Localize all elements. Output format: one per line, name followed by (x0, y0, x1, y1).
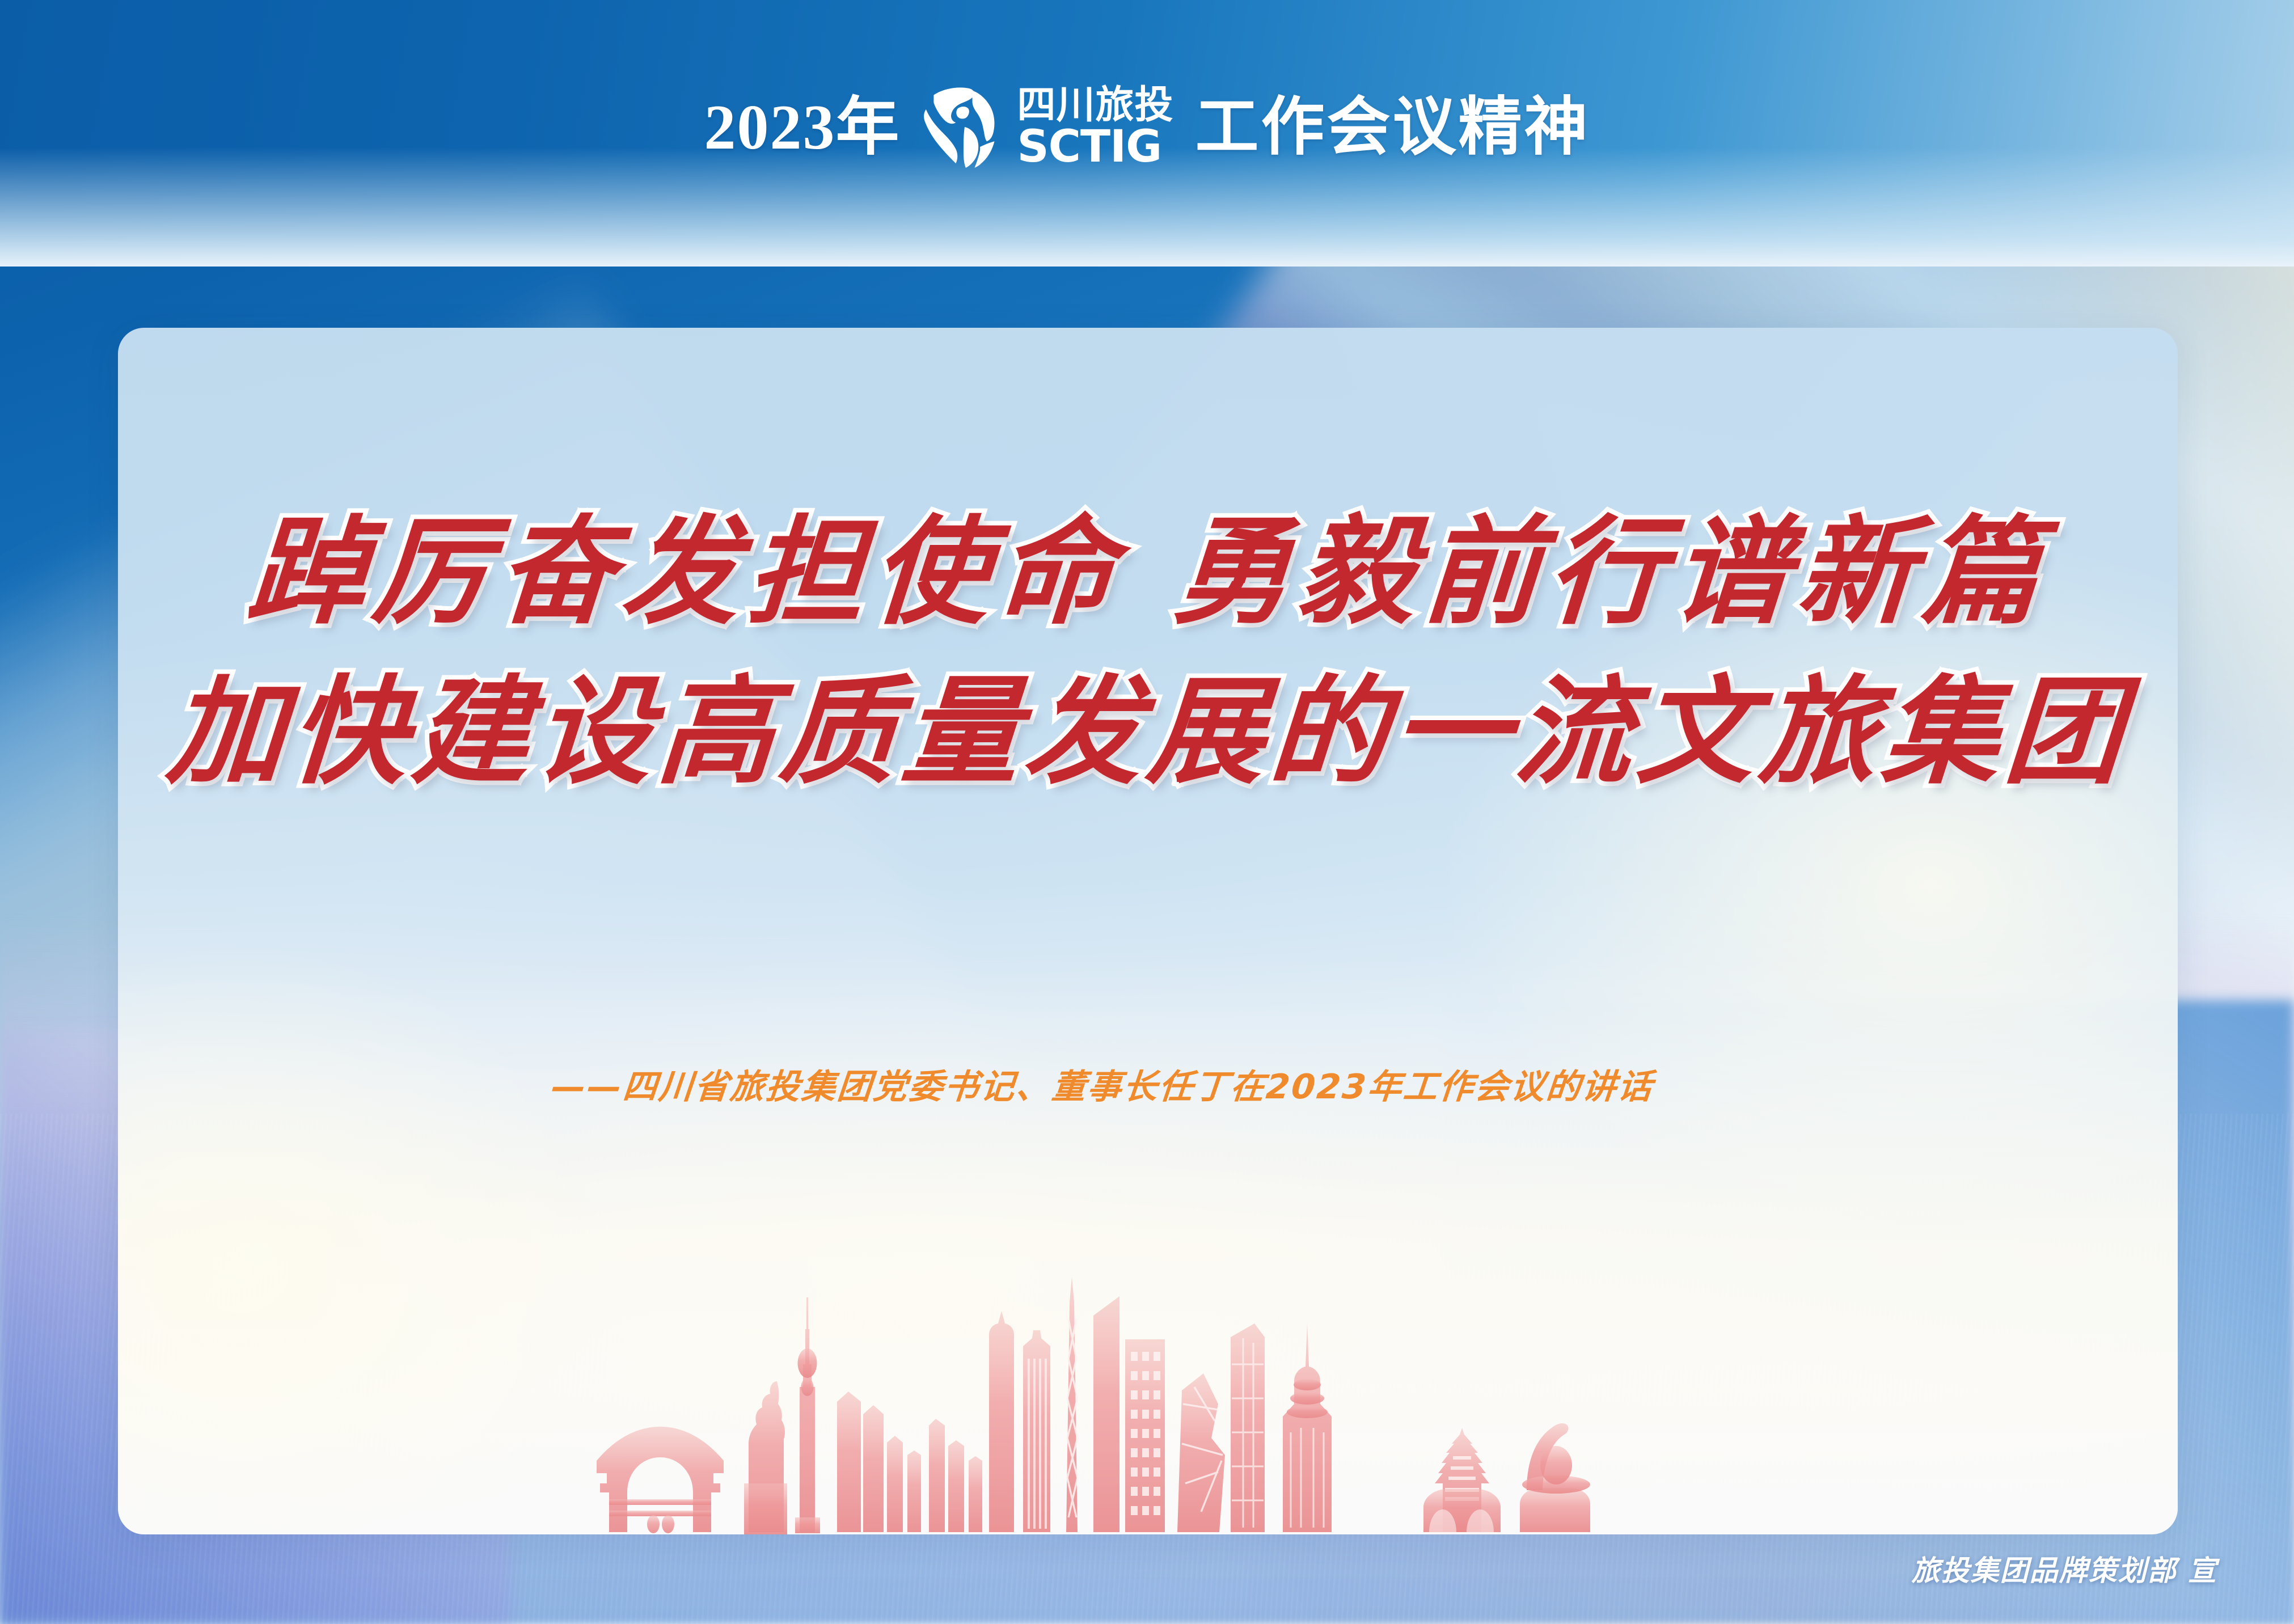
headline-line-1-right: 勇毅前行谱新篇 (1169, 504, 2052, 640)
headline-line-2: 加快建设高质量发展的一流文旅集团 (118, 658, 2178, 807)
header-suffix-label: 工作会议精神 (1195, 96, 1590, 159)
content-card: 踔厉奋发担使命勇毅前行谱新篇 加快建设高质量发展的一流文旅集团 ——四川省旅投集… (118, 328, 2178, 1534)
sctig-logo-english: SCTIG (1017, 126, 1173, 168)
header-year-label: 2023年 (704, 96, 900, 159)
poster-canvas: 2023年 四川旅投 SCTIG 工作会议精 (0, 0, 2294, 1624)
sctig-globe-logo-icon (922, 85, 1004, 170)
headline-block: 踔厉奋发担使命勇毅前行谱新篇 加快建设高质量发展的一流文旅集团 (118, 498, 2178, 807)
attribution-text: ——四川省旅投集团党委书记、董事长任丁在2023年工作会议的讲话 (550, 1059, 1656, 1109)
credit-label: 旅投集团品牌策划部 宣 (1912, 1548, 2217, 1589)
sctig-logo-wordmark: 四川旅投 SCTIG (1017, 87, 1173, 168)
headline-line-1-left: 踔厉奋发担使命 (244, 504, 1127, 640)
sctig-logo-chinese: 四川旅投 (1017, 87, 1173, 124)
sctig-logo-lockup: 四川旅投 SCTIG (922, 85, 1173, 170)
header-title-row: 2023年 四川旅投 SCTIG 工作会议精 (0, 74, 2294, 181)
attribution-block: ——四川省旅投集团党委书记、董事长任丁在2023年工作会议的讲话 (118, 1059, 2178, 1109)
headline-line-1: 踔厉奋发担使命勇毅前行谱新篇 (118, 498, 2178, 648)
